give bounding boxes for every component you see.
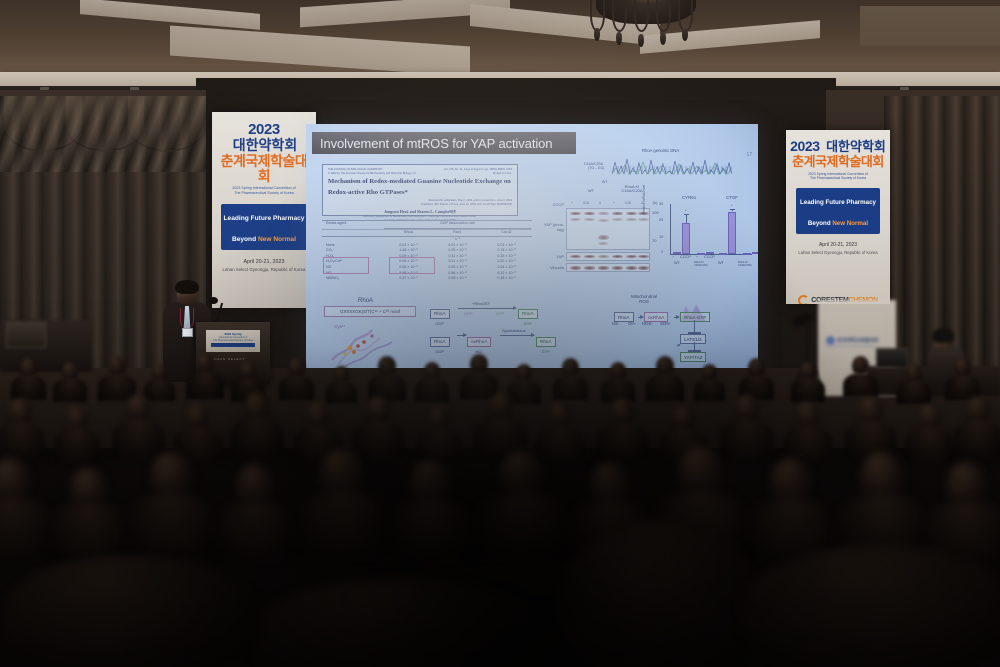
- wb-band: [598, 255, 609, 258]
- journal-name-line-2: © 2003 by The American Society for Bioch…: [328, 172, 417, 176]
- wb-row-label-vinculin: Vinculin: [538, 265, 564, 270]
- reaction-label-gdp-release: GDP: [464, 311, 473, 316]
- pathway-arrow-2: [674, 317, 679, 318]
- wb-band: [598, 219, 609, 222]
- foreground-head: [250, 578, 550, 667]
- chromatogram-label-wt: WT: [602, 180, 608, 184]
- table-col0-header: Redox agent: [322, 221, 384, 229]
- reaction-node-label-gtp: GTP: [518, 321, 538, 326]
- audience-head: [500, 450, 543, 498]
- banner-left-title-kr-2: 춘계국제학술대회: [215, 154, 313, 183]
- wb-band: [626, 255, 637, 258]
- audience-shoulders: [54, 428, 100, 461]
- slide-surface: Involvement of mtROS for YAP activation …: [306, 124, 758, 376]
- audience-head: [366, 396, 391, 424]
- chandelier-crystal: [594, 28, 600, 41]
- paper-published-date: Published, JBC Papers in Press, June 10,…: [328, 203, 512, 207]
- table-header-row: Redox agent GDP dissociation rate: [322, 220, 532, 230]
- banner-right-location: Lahan Select Gyeongju, Republic of Korea: [789, 250, 887, 255]
- audience-shoulders: [720, 419, 775, 458]
- reaction-row-1-left: RhoA GDP: [430, 302, 450, 326]
- chart-group-label-ki-1: RhoA KI C16A/C20A: [694, 261, 716, 267]
- banner-right-slogan-1: Leading Future Pharmacy: [800, 199, 876, 206]
- banner-right-slogan-2-highlight: New Normal: [832, 220, 868, 227]
- table-subheader-rac1: Rac1: [433, 230, 482, 236]
- audience-head: [770, 458, 811, 504]
- banner-left-title-kr-1: 대한약학회: [233, 138, 297, 152]
- rhoa-sequence-motif: GXXXXGK(S/T)C¹⁶ + C²⁰ motif: [324, 306, 416, 317]
- table-cell-rac1: 0.28 × 10⁻³: [433, 276, 482, 282]
- speaker-name-badge: [182, 328, 193, 337]
- banner-right-title-kr-1: 대한약학회: [826, 140, 886, 153]
- audience-shoulders: [553, 375, 589, 401]
- audience: [0, 340, 1000, 667]
- pathway-species-2: HOS·: [642, 321, 653, 326]
- audience-shoulders: [352, 421, 405, 459]
- audience-head: [8, 398, 32, 425]
- chart-bar: [706, 252, 714, 254]
- audience-head: [678, 446, 723, 496]
- audience-shoulders: [596, 423, 649, 461]
- wb-timepoint-2: 1: [594, 200, 606, 205]
- valance-swag: [128, 96, 206, 152]
- chart-bar: [682, 223, 690, 254]
- conference-photo-scene: 2023 대한약학회 춘계국제학술대회 2023 Spring Internat…: [0, 0, 1000, 667]
- chandelier: [556, 0, 736, 64]
- projection-screen: Involvement of mtROS for YAP activation …: [306, 124, 758, 376]
- chart-significance-marker: *: [731, 204, 732, 208]
- wb-row-label-yap: YAP: [540, 254, 564, 259]
- banner-left-slogan-1: Leading Future Pharmacy: [224, 215, 305, 222]
- audience-head: [70, 468, 106, 508]
- chart-error-cap: [684, 214, 689, 215]
- audience-shoulders: [844, 421, 897, 459]
- audience-head: [236, 464, 274, 507]
- banner-right-date: April 20-21, 2023: [789, 242, 887, 248]
- audience-head: [150, 452, 192, 499]
- wb-band: [612, 212, 623, 215]
- audience-shoulders: [843, 373, 879, 399]
- audience-shoulders: [50, 503, 126, 557]
- audience-shoulders: [646, 374, 684, 401]
- audience-shoulders: [11, 375, 47, 401]
- audience-head: [428, 406, 450, 431]
- audience-shoulders: [112, 419, 165, 457]
- reaction-label-rhogef: +RhoGEF: [472, 301, 490, 306]
- table-highlight-agents: [323, 257, 369, 274]
- speaker-hair: [175, 280, 199, 294]
- audience-shoulders: [791, 378, 825, 402]
- slide-page-number: 17: [746, 152, 752, 158]
- chart-group-label-ki-2: RhoA KI C16A/C20A: [738, 261, 758, 267]
- wb-timepoint-1: 0.5: [580, 200, 592, 205]
- ring-icon: [798, 295, 809, 304]
- audience-shoulders: [388, 499, 472, 559]
- banner-right-year: 2023: [790, 139, 820, 153]
- audience-shoulders: [535, 426, 585, 462]
- chromatogram-label-ki-2: (TG→GC): [588, 166, 604, 170]
- audience-shoulders: [415, 378, 449, 402]
- audience-head: [66, 406, 88, 431]
- banner-right: 2023 대한약학회 춘계국제학술대회 2023 Spring Internat…: [786, 130, 890, 304]
- chart-bar: [728, 212, 736, 255]
- wb-band: [570, 218, 581, 221]
- chart-panel-title-ctgf: CTGF: [726, 195, 738, 200]
- chart-significance-marker: *: [685, 209, 686, 213]
- wb-band: [584, 255, 595, 258]
- wb-band: [570, 255, 581, 258]
- audience-head: [858, 396, 883, 424]
- table-cell-agent: NO/NO₂: [322, 276, 384, 282]
- banner-left-location: Lahan Select Gyeongju, Republic of Korea: [215, 267, 313, 272]
- wb-band: [612, 218, 623, 221]
- audience-shoulders: [215, 501, 295, 558]
- chart-panel-title-cyr61: CYR61: [682, 195, 696, 200]
- chart-ytick-0: 0: [661, 250, 663, 254]
- pathway-node-rhoa-gtp: RhoA-GTP: [680, 312, 710, 322]
- wb-band: [570, 266, 581, 269]
- audience-head: [672, 406, 695, 432]
- audience-head: [966, 396, 990, 423]
- pathway-source-line-2: ROS: [620, 299, 668, 304]
- reaction-node-rhoa-gdp: RhoA: [430, 309, 450, 319]
- audience-shoulders: [53, 378, 87, 402]
- wb-band: [584, 212, 595, 215]
- rhoa-motif-label: RhoA: [358, 298, 373, 304]
- wb-band-shifted: [598, 235, 609, 240]
- audience-shoulders: [953, 420, 1000, 456]
- wb-band: [612, 266, 623, 269]
- wb-band: [638, 218, 649, 221]
- chart-error-cap: [730, 209, 735, 210]
- table-subheader-rhoa: RhoA: [384, 230, 433, 236]
- table-highlight-rhoa-values: [389, 257, 435, 274]
- audience-shoulders: [694, 379, 726, 402]
- banner-right-subtitle-2: The Pharmaceutical Society of Korea: [789, 176, 887, 180]
- chandelier-arm: [656, 0, 671, 32]
- foreground-head: [560, 520, 760, 667]
- banner-left-slogan-2-plain: Beyond: [232, 236, 258, 243]
- chandelier-crystal: [638, 34, 644, 47]
- paper-title-line-1: Mechanism of Redox-mediated Guanine Nucl…: [328, 178, 512, 186]
- paper-title-line-2: Redox-active Rho GTPases*: [328, 189, 512, 197]
- journal-paper-header: THE JOURNAL OF BIOLOGICAL CHEMISTRY © 20…: [322, 164, 518, 216]
- chart-error-bar: [686, 214, 687, 223]
- paper-authors: Jongyun Heo‡ and Sharon L. Campbell§¶: [328, 209, 512, 214]
- audience-head: [126, 394, 151, 422]
- audience-shoulders: [326, 381, 358, 404]
- ceiling-panel: [860, 6, 1000, 46]
- table-subheader-cdc42: Cdc42: [482, 230, 531, 236]
- audience-shoulders: [0, 497, 52, 557]
- pathway-connector-1: [694, 320, 695, 332]
- audience-shoulders: [230, 417, 285, 456]
- chart-ytick-20: 20: [659, 218, 663, 222]
- audience-head: [186, 404, 209, 430]
- chart-group-label-wt-1: WT: [674, 261, 680, 265]
- reaction-row-1-right: RhoA GTP: [518, 302, 538, 326]
- chandelier-arm: [612, 0, 627, 32]
- foreground-head: [740, 545, 1000, 667]
- chromatogram-title: RhoA genomic DNA: [642, 148, 679, 153]
- chart-xtick-0: −: [672, 255, 674, 259]
- banner-left-year: 2023: [248, 122, 280, 137]
- banner-left-slogan: Leading Future Pharmacy Beyond New Norma…: [221, 204, 307, 250]
- reaction-node-rhoa-gtp: RhoA: [518, 309, 538, 319]
- chandelier-crystal: [616, 32, 622, 45]
- wb-group-ki-2: C16A/C20A: [612, 188, 652, 193]
- journal-volume-line-1: Vol. 278, No. 31, Issue of August 1, pp.…: [444, 168, 512, 172]
- pathway-species-1: OH·: [628, 321, 636, 326]
- reaction-node-label-gdp: GDP: [430, 321, 450, 326]
- wb-timepoint-3: −: [608, 200, 620, 205]
- banner-right-slogan: Leading Future Pharmacy Beyond New Norma…: [796, 188, 880, 234]
- chart-y-axis-label: Relative mRNA level: [642, 185, 646, 214]
- wb-band-shifted: [598, 242, 608, 245]
- audience-head: [0, 458, 30, 503]
- chart-bar: [719, 253, 727, 255]
- journal-volume-line-2: Printed in U.S.A.: [444, 172, 512, 176]
- audience-shoulders: [0, 422, 45, 458]
- audience-head: [610, 398, 635, 426]
- pathway-arrow-1: [638, 317, 643, 318]
- audience-shoulders: [905, 427, 953, 462]
- audience-shoulders: [127, 493, 215, 556]
- wb-row-label-phostag: YAP (phos-tag): [540, 222, 564, 232]
- audience-head: [410, 460, 450, 505]
- reaction-label-gtp-bind: GTP: [496, 311, 504, 316]
- banner-left-subtitle-2: The Pharmaceutical Society of Korea: [215, 191, 313, 195]
- wb-group-wt: WT: [576, 188, 606, 193]
- wb-band: [638, 266, 649, 269]
- wb-band: [584, 218, 595, 221]
- speaker-lanyard: [180, 308, 194, 328]
- banner-left-slogan-2-highlight: New Normal: [258, 236, 296, 243]
- chandelier-crystal: [682, 28, 688, 41]
- western-blot-panel: CCCP WT RhoA KI C16A/C20A − 0.5 1 − 0.5 …: [564, 196, 664, 274]
- foreground-head: [0, 555, 260, 667]
- wb-gel-yap: [566, 252, 650, 261]
- wb-band: [598, 266, 609, 269]
- chandelier-crystal: [660, 32, 666, 45]
- audience-shoulders: [897, 380, 931, 404]
- wb-treatment-label: CCCP: [542, 202, 564, 207]
- audience-head: [918, 404, 941, 430]
- pathway-species-0: HS·: [612, 321, 620, 326]
- light-head-icon: [791, 310, 816, 328]
- audience-shoulders: [186, 372, 224, 399]
- reaction-arrow-2b: [500, 335, 534, 336]
- wb-band: [612, 255, 623, 258]
- reaction-label-spontaneous: Spontaneous: [502, 328, 526, 333]
- chandelier-arm: [634, 0, 649, 32]
- qpcr-bar-chart: 30 20 10 0 Relative mRNA level CYR61 CTG…: [658, 202, 752, 276]
- table-cell-cdc42: 0.18 × 10⁻³: [482, 276, 531, 282]
- reaction-arrow-2a: [457, 335, 466, 336]
- wb-timepoint-4: 0.5: [622, 200, 634, 205]
- banner-right-title-kr-2: 춘계국제학술대회: [789, 155, 887, 169]
- wb-band: [584, 266, 595, 269]
- microphone-head: [209, 297, 218, 304]
- pathway-species-3: SOH·: [660, 321, 671, 326]
- chart-ytick-30: 30: [659, 202, 663, 206]
- audience-shoulders: [279, 375, 315, 401]
- chart-xtick-2: −: [696, 255, 698, 259]
- wb-band: [626, 266, 637, 269]
- chart-xtick-1: CCCP: [680, 255, 691, 259]
- audience-head: [548, 402, 572, 429]
- audience-head: [860, 452, 903, 500]
- wb-gel-vinculin: [566, 263, 650, 272]
- audience-head: [946, 462, 986, 507]
- chart-bar: [743, 253, 751, 255]
- audience-shoulders: [144, 379, 176, 402]
- chart-bar: [752, 252, 758, 254]
- banner-right-slogan-2-plain: Beyond: [808, 220, 832, 227]
- wb-band: [598, 212, 609, 215]
- chromatogram-base-ladder: [612, 164, 732, 178]
- audience-shoulders: [416, 428, 462, 461]
- audience-head: [590, 462, 629, 506]
- audience-head: [320, 448, 364, 497]
- table-cell-rhoa: 0.37 × 10⁻³: [384, 276, 433, 282]
- audience-shoulders: [476, 492, 566, 557]
- slide-title-bar: Involvement of mtROS for YAP activation: [312, 132, 576, 154]
- table-subheader-row: RhoA Rac1 Cdc42: [322, 230, 532, 238]
- wb-band: [570, 212, 581, 215]
- banner-left: 2023 대한약학회 춘계국제학술대회 2023 Spring Internat…: [212, 112, 316, 308]
- audience-shoulders: [296, 491, 388, 557]
- table-span-header: GDP dissociation rate: [384, 221, 531, 229]
- wb-gel-phostag: [566, 208, 650, 250]
- banner-left-date: April 20-21, 2023: [215, 259, 313, 265]
- wb-timepoint-0: −: [566, 200, 578, 205]
- chart-ytick-10: 10: [659, 235, 663, 239]
- audience-shoulders: [783, 426, 833, 462]
- chart-group-label-wt-2: WT: [718, 261, 724, 265]
- ceiling-panel: [170, 26, 470, 77]
- audience-head: [306, 402, 330, 429]
- reaction-arrow-1: [458, 308, 516, 309]
- table-row: NO/NO₂0.37 × 10⁻³0.28 × 10⁻³0.18 × 10⁻³: [322, 276, 532, 282]
- wb-band: [638, 255, 649, 258]
- chart-y-axis: [670, 204, 671, 254]
- slide-title: Involvement of mtROS for YAP activation: [320, 136, 552, 151]
- wb-band: [626, 218, 637, 221]
- wb-band: [626, 212, 637, 215]
- audience-head: [796, 402, 820, 429]
- chart-xtick-3: CCCP: [704, 255, 715, 259]
